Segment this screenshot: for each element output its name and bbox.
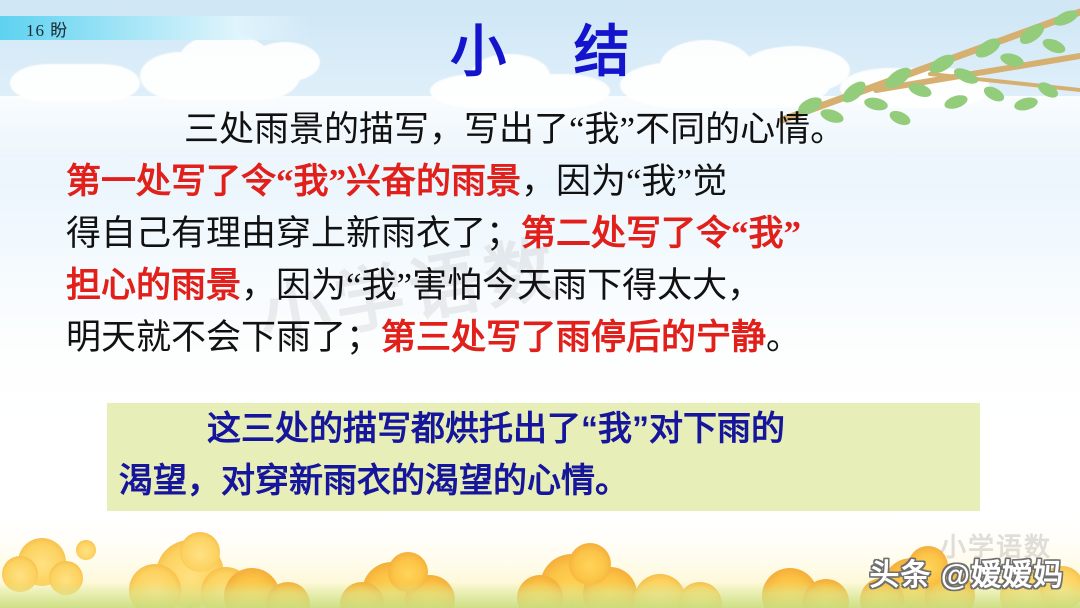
text-segment-highlight: 担心的雨景 bbox=[66, 266, 241, 305]
author-watermark: 头条 @嫒嫒妈 bbox=[869, 550, 1064, 594]
body-line: 明天就不会下雨了；第三处写了雨停后的宁静。 bbox=[66, 312, 1014, 364]
text-segment: 。 bbox=[766, 318, 801, 357]
page-title: 小 结 bbox=[0, 24, 1080, 80]
body-line: 得自己有理由穿上新雨衣了；第二处写了令“我” bbox=[66, 208, 1014, 260]
text-segment: 得自己有理由穿上新雨衣了； bbox=[66, 214, 521, 253]
body-text-block: 三处雨景的描写，写出了“我”不同的心情。 第一处写了令“我”兴奋的雨景，因为“我… bbox=[66, 104, 1014, 364]
summary-line: 这三处的描写都烘托出了“我”对下雨的 bbox=[107, 403, 980, 455]
text-segment: ，因为“我”觉 bbox=[521, 162, 727, 201]
body-line: 三处雨景的描写，写出了“我”不同的心情。 bbox=[66, 104, 1014, 156]
body-line: 第一处写了令“我”兴奋的雨景，因为“我”觉 bbox=[66, 156, 1014, 208]
slide-canvas: 16 盼 小 结 小学语数 三处雨景的描写，写出了“我”不同的心情。 第一处写了… bbox=[0, 0, 1080, 608]
body-line: 担心的雨景，因为“我”害怕今天雨下得太大， bbox=[66, 260, 1014, 312]
text-segment: ，因为“我”害怕今天雨下得太大， bbox=[241, 266, 762, 305]
text-segment-highlight: 第一处写了令“我”兴奋的雨景 bbox=[66, 162, 521, 201]
text-segment: 明天就不会下雨了； bbox=[66, 318, 381, 357]
text-segment: 三处雨景的描写，写出了“我”不同的心情。 bbox=[184, 110, 845, 149]
text-segment-highlight: 第三处写了雨停后的宁静 bbox=[381, 318, 766, 357]
text-segment-highlight: 第二处写了令“我” bbox=[521, 214, 801, 253]
summary-box: 这三处的描写都烘托出了“我”对下雨的 渴望，对穿新雨衣的渴望的心情。 bbox=[107, 403, 980, 511]
